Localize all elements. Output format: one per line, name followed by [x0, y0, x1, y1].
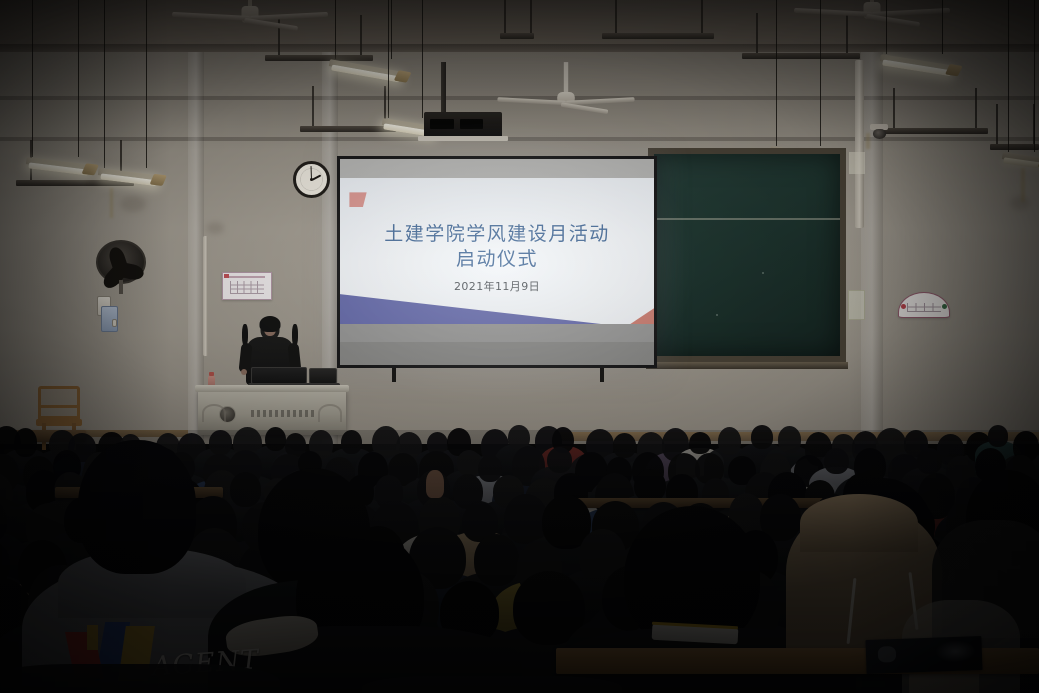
- projection-screen: 土建学院学风建设月活动 启动仪式 2021年11月9日: [337, 156, 657, 368]
- lectern-ornament: [202, 404, 226, 422]
- student-head: [547, 447, 572, 473]
- student-head: [457, 450, 481, 476]
- screen-leg: [392, 368, 396, 382]
- projector-mount-arm: [441, 62, 446, 112]
- brochure-highlight: [935, 640, 975, 662]
- green-chalkboard: [648, 148, 846, 362]
- lamp-suspension-wire: [942, 0, 943, 54]
- lamp-suspension-wire: [146, 0, 147, 168]
- lectern-ornament: [318, 404, 342, 422]
- student-head: [824, 448, 849, 474]
- lectern-nameplate: [251, 410, 316, 417]
- slide-footer-band: [340, 324, 654, 342]
- laptop-screen: [251, 367, 307, 384]
- rail-support-stem: [701, 0, 703, 33]
- chalk-mark: [762, 272, 764, 274]
- foreground-silhouette: [0, 664, 280, 693]
- projector-vent: [430, 119, 453, 129]
- placard-grid: [907, 303, 941, 312]
- classroom-notice-poster: [222, 272, 272, 300]
- wall-streak: [866, 133, 870, 149]
- lamp-suspension-wire: [886, 0, 887, 54]
- screen-surface: 土建学院学风建设月活动 启动仪式 2021年11月9日: [340, 159, 654, 365]
- rail-support-stem: [530, 0, 532, 33]
- placard-dot: [901, 304, 906, 309]
- screen-leg: [600, 368, 604, 382]
- rail-support-stem: [996, 104, 998, 144]
- student-head: [988, 425, 1009, 446]
- chair-backrest: [38, 386, 80, 419]
- fan-stem: [119, 280, 123, 294]
- chalk-tray: [646, 362, 848, 369]
- student-head: [474, 534, 519, 586]
- ceiling-rail-bar: [880, 128, 988, 134]
- rail-support-stem: [756, 13, 758, 53]
- clock-center-pin: [310, 178, 313, 181]
- rail-support-stem: [846, 13, 848, 53]
- raised-hand: [426, 470, 444, 498]
- poster-schedule-grid: [230, 281, 265, 294]
- foreground-silhouette: [362, 676, 622, 693]
- second-laptop-screen: [309, 368, 337, 384]
- slide-date: 2021年11月9日: [340, 278, 654, 294]
- lamp-suspension-wire: [391, 0, 392, 59]
- wall-stain: [1010, 196, 1030, 210]
- ceiling-rail-bar: [990, 144, 1039, 150]
- lamp-suspension-wire: [422, 0, 423, 118]
- bottle-cap: [209, 372, 213, 376]
- student-head: [917, 448, 943, 474]
- chalkboard-divider: [654, 218, 840, 220]
- projector-tray: [418, 136, 508, 141]
- slide-title: 土建学院学风建设月活动 启动仪式: [340, 222, 654, 272]
- rail-support-stem: [893, 88, 895, 128]
- lamp-suspension-wire: [820, 0, 821, 146]
- ceiling-rail-bar: [742, 53, 860, 59]
- wall-stain: [120, 196, 146, 212]
- rail-support-stem: [312, 86, 314, 126]
- student-head: [718, 427, 741, 455]
- wall-conduit-pipe: [855, 60, 864, 228]
- wall-switch: [112, 319, 117, 327]
- placard-dot: [942, 304, 947, 309]
- wall-clock: [293, 161, 330, 198]
- lectern-top-edge: [195, 385, 349, 392]
- student-head: [778, 426, 801, 453]
- screen-band-bottom: [340, 342, 654, 365]
- taped-paper: [848, 290, 865, 320]
- ceiling-projector: [424, 112, 502, 138]
- student-head: [689, 432, 711, 454]
- rail-support-stem: [504, 0, 506, 33]
- projector-vent: [460, 119, 483, 129]
- security-camera-dome: [873, 129, 886, 139]
- lamp-suspension-wire: [335, 0, 336, 59]
- rail-support-stem: [360, 15, 362, 55]
- student-head: [230, 472, 261, 506]
- chair-slat: [41, 405, 76, 408]
- student-head: [341, 430, 362, 455]
- rail-support-stem: [975, 88, 977, 128]
- wall-stain: [206, 222, 224, 234]
- lamp-suspension-wire: [78, 0, 79, 157]
- presenter-hand: [241, 369, 247, 375]
- student-head: [14, 428, 38, 456]
- ceiling-rail-bar: [500, 33, 534, 39]
- wall-pillar: [861, 52, 883, 444]
- lamp-suspension-wire: [388, 0, 389, 118]
- taped-paper: [849, 152, 865, 174]
- event-brochure: [865, 636, 982, 674]
- presentation-slide: 土建学院学风建设月活动 启动仪式 2021年11月9日: [340, 178, 654, 343]
- poster-header-line: [229, 276, 265, 278]
- wall-mounted-fan: [96, 240, 146, 284]
- chalk-mark: [716, 314, 718, 316]
- lamp-suspension-wire: [1034, 0, 1035, 152]
- parka-hood: [800, 494, 918, 552]
- graphic-shape: [87, 625, 99, 651]
- photo-canvas: 土建学院学风建设月活动 启动仪式 2021年11月9日: [0, 0, 1039, 693]
- lamp-suspension-wire: [104, 0, 105, 168]
- rail-support-stem: [615, 0, 617, 33]
- student-head: [265, 427, 286, 452]
- rail-support-stem: [278, 15, 280, 55]
- student-head: [613, 433, 637, 458]
- lamp-suspension-wire: [1008, 0, 1009, 152]
- wall-conduit-pipe: [203, 236, 208, 356]
- ceiling-rail-bar: [265, 55, 373, 61]
- fan-downrod: [564, 62, 568, 92]
- student-head: [78, 440, 196, 574]
- ceiling-rail-bar: [602, 33, 714, 39]
- screen-band-top: [340, 159, 654, 178]
- poster-corner-mark: [224, 274, 229, 278]
- slide-accent-shape: [349, 192, 366, 207]
- student-head: [209, 430, 232, 455]
- wall-streak: [110, 188, 113, 218]
- student-head: [751, 425, 773, 449]
- lamp-suspension-wire: [776, 0, 777, 146]
- brochure-figure: [877, 646, 896, 663]
- lamp-suspension-wire: [32, 0, 33, 157]
- wall-streak: [1021, 168, 1025, 202]
- presenter-hair: [260, 316, 281, 332]
